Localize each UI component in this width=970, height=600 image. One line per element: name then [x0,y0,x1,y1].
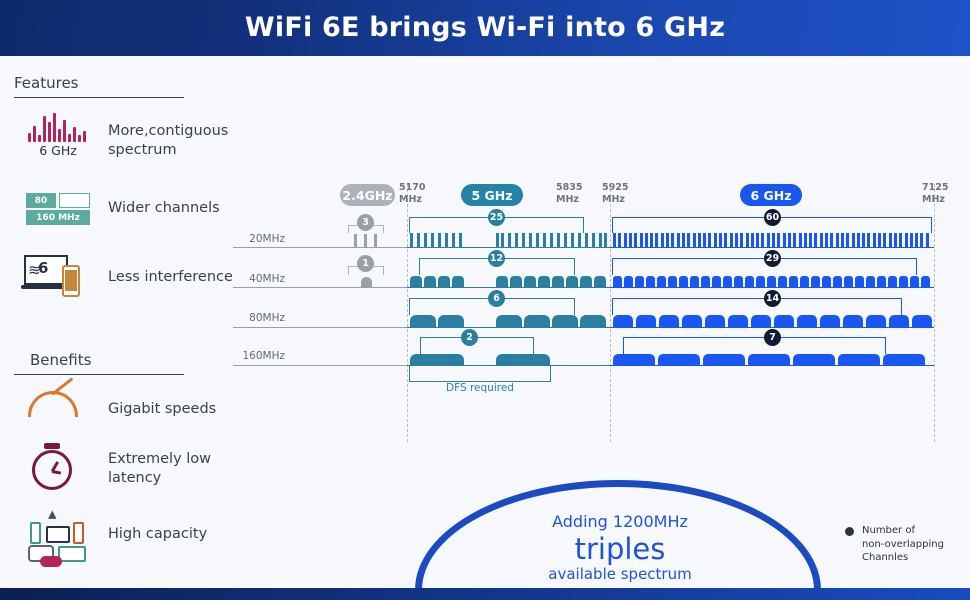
benefits-heading: Benefits [30,351,91,369]
channel-80-row: 80 [26,193,90,208]
row-baseline-20mhz-5g [407,247,610,248]
feature-item-more-contiguous-spectrum: 6 GHz More,contiguous spectrum [22,108,282,174]
count-badge-5ghz-160mhz: 2 [461,329,478,346]
row-label-160mhz: 160MHz [233,350,285,362]
count-badge-24ghz-20mhz: 3 [357,214,374,231]
footer-line-3: available spectrum [470,565,770,585]
feature-label-0: More,contiguous spectrum [108,122,228,160]
infographic-page: WiFi 6E brings Wi-Fi into 6 GHz Features [0,0,970,600]
legend-dot-icon [845,527,854,536]
freq-label-5925: 5925 MHz [602,182,628,205]
waveform-caption: 6 GHz [22,143,94,158]
speedometer-icon [22,379,94,441]
footer-line-1: Adding 1200MHz [470,512,770,533]
divider-7125 [934,184,935,442]
count-badge-24ghz-40mhz: 1 [357,255,374,272]
divider-5170 [407,184,408,442]
footer-line-2: triples [470,533,770,565]
band-badge-6ghz: 6 GHz [740,184,802,206]
row-baseline-20mhz-6g [610,247,934,248]
features-heading: Features [14,74,79,92]
benefit-item-high-capacity: ▴ High capacity [22,502,282,568]
legend-label: Number of non-overlapping Channles [862,524,944,565]
benefit-item-low-latency: Extremely low latency [22,438,282,500]
spectrum-chart: 2.4GHz 5 GHz 6 GHz 5170 MHz 5835 MHz 592… [285,170,965,440]
bracket-6ghz-80mhz [612,298,902,315]
band-badge-5ghz: 5 GHz [461,184,523,206]
benefit-label-0: Gigabit speeds [108,400,216,419]
channels-5ghz-40mhz [410,275,607,287]
bracket-6ghz-160mhz [623,337,886,354]
row-baseline-40mhz-6g [610,287,934,288]
channels-6ghz-80mhz [613,314,931,327]
feature-label-2: Less interference [108,268,233,287]
features-divider [14,97,184,98]
channels-24ghz-40mhz [359,275,377,287]
row-label-40mhz: 40MHz [233,273,285,285]
channels-6ghz-160mhz [613,353,931,366]
chart-legend: Number of non-overlapping Channles [845,524,965,565]
row-baseline-40mhz-left [233,287,407,288]
benefit-label-2: High capacity [108,525,207,544]
devices-icon: ▴ [22,504,94,566]
benefits-divider [14,374,184,375]
row-baseline-80mhz-6g [610,327,934,328]
count-badge-5ghz-40mhz: 12 [488,250,505,267]
wifi-glyph: ▴ [48,506,57,523]
count-badge-6ghz-40mhz: 29 [764,250,781,267]
channels-5ghz-80mhz [410,314,607,327]
dfs-required-label: DFS required [409,382,551,394]
footer-message: Adding 1200MHz triples available spectru… [470,512,770,585]
row-baseline-80mhz-5g [407,327,610,328]
channels-6ghz-20mhz [613,232,931,247]
count-badge-5ghz-20mhz: 25 [488,209,505,226]
wifi6-badge-text: 6 [38,259,48,277]
wider-channels-icon: 80 160 MHz [22,185,94,233]
spectrum-waveform-icon: 6 GHz [22,110,94,172]
stopwatch-icon [22,438,94,500]
count-badge-6ghz-80mhz: 14 [764,290,781,307]
count-badge-6ghz-160mhz: 7 [764,329,781,346]
dfs-bracket [409,366,551,382]
freq-label-7125: 7125 MHz [922,182,948,205]
channels-5ghz-160mhz [410,353,607,366]
bottom-banner [0,588,970,600]
benefit-item-gigabit-speeds: Gigabit speeds [22,381,282,439]
channel-80-label: 80 [26,193,56,208]
page-title: WiFi 6E brings Wi-Fi into 6 GHz [0,0,970,56]
row-label-80mhz: 80MHz [233,312,285,324]
row-baseline-20mhz-left [233,247,407,248]
feature-item-wider-channels: 80 160 MHz Wider channels [22,184,282,234]
row-baseline-40mhz-5g [407,287,610,288]
row-baseline-80mhz-left [233,327,407,328]
freq-label-5170: 5170 MHz [399,182,425,205]
row-baseline-160mhz-left [233,365,407,366]
waveform-bars [28,112,88,142]
row-label-20mhz: 20MHz [233,233,285,245]
channel-160-label: 160 MHz [26,210,90,225]
phone-shape [62,265,80,297]
feature-label-1: Wider channels [108,199,220,218]
channels-5ghz-20mhz [410,232,607,247]
count-badge-5ghz-80mhz: 6 [488,290,505,307]
channels-24ghz-20mhz [353,232,379,247]
channels-6ghz-40mhz [613,275,931,287]
count-badge-6ghz-20mhz: 60 [764,209,781,226]
laptop-phone-icon: ≋ 6 [22,247,94,309]
divider-5925 [610,184,611,442]
benefit-label-1: Extremely low latency [108,450,211,488]
band-badge-24ghz: 2.4GHz [340,184,395,206]
freq-label-5835: 5835 MHz [556,182,582,205]
channel-empty-slot [59,193,90,208]
